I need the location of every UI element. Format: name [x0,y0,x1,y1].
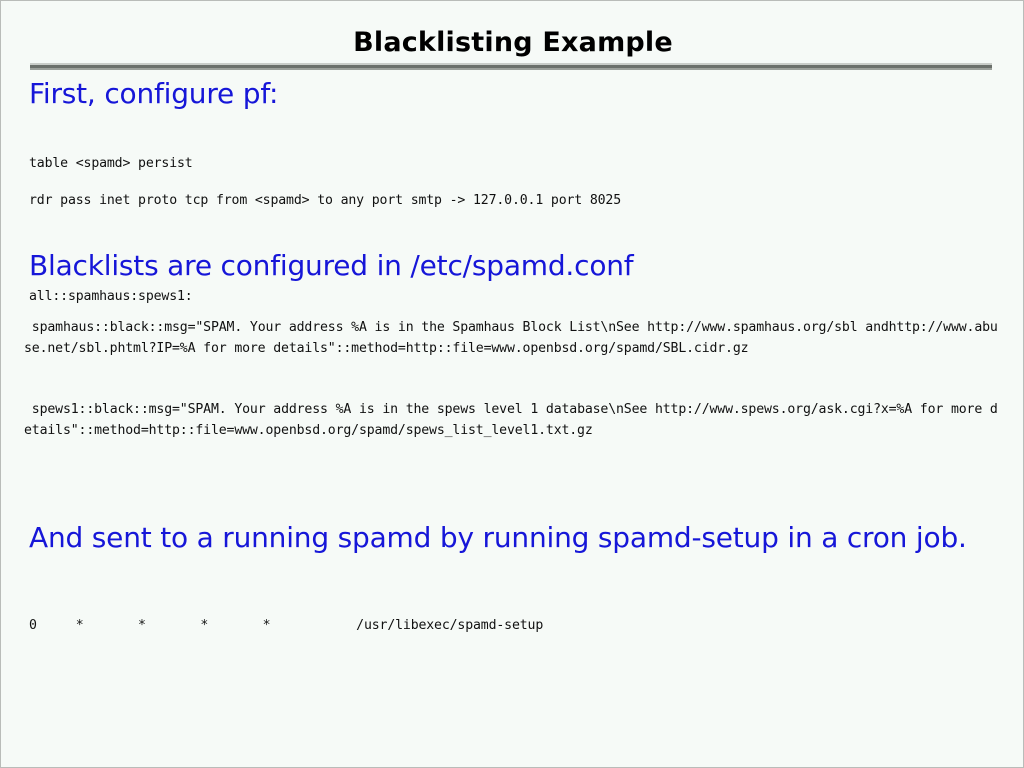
page-title: Blacklisting Example [1,27,1024,58]
heading-blacklists-config: Blacklists are configured in /etc/spamd.… [29,249,633,282]
code-block-spews1: spews1::black::msg="SPAM. Your address %… [24,399,1004,441]
code-line-pf-table: table <spamd> persist [29,153,193,174]
code-block-spamhaus: spamhaus::black::msg="SPAM. Your address… [24,317,1004,359]
code-line-all-lists: all::spamhaus:spews1: [29,286,193,307]
title-divider [30,63,992,70]
heading-configure-pf: First, configure pf: [29,77,278,110]
code-line-cron-entry: 0 * * * * /usr/libexec/spamd-setup [29,618,543,633]
slide: Blacklisting Example First, configure pf… [0,0,1024,768]
heading-spamd-setup-cron: And sent to a running spamd by running s… [29,521,967,554]
code-line-pf-rdr: rdr pass inet proto tcp from <spamd> to … [29,190,621,211]
